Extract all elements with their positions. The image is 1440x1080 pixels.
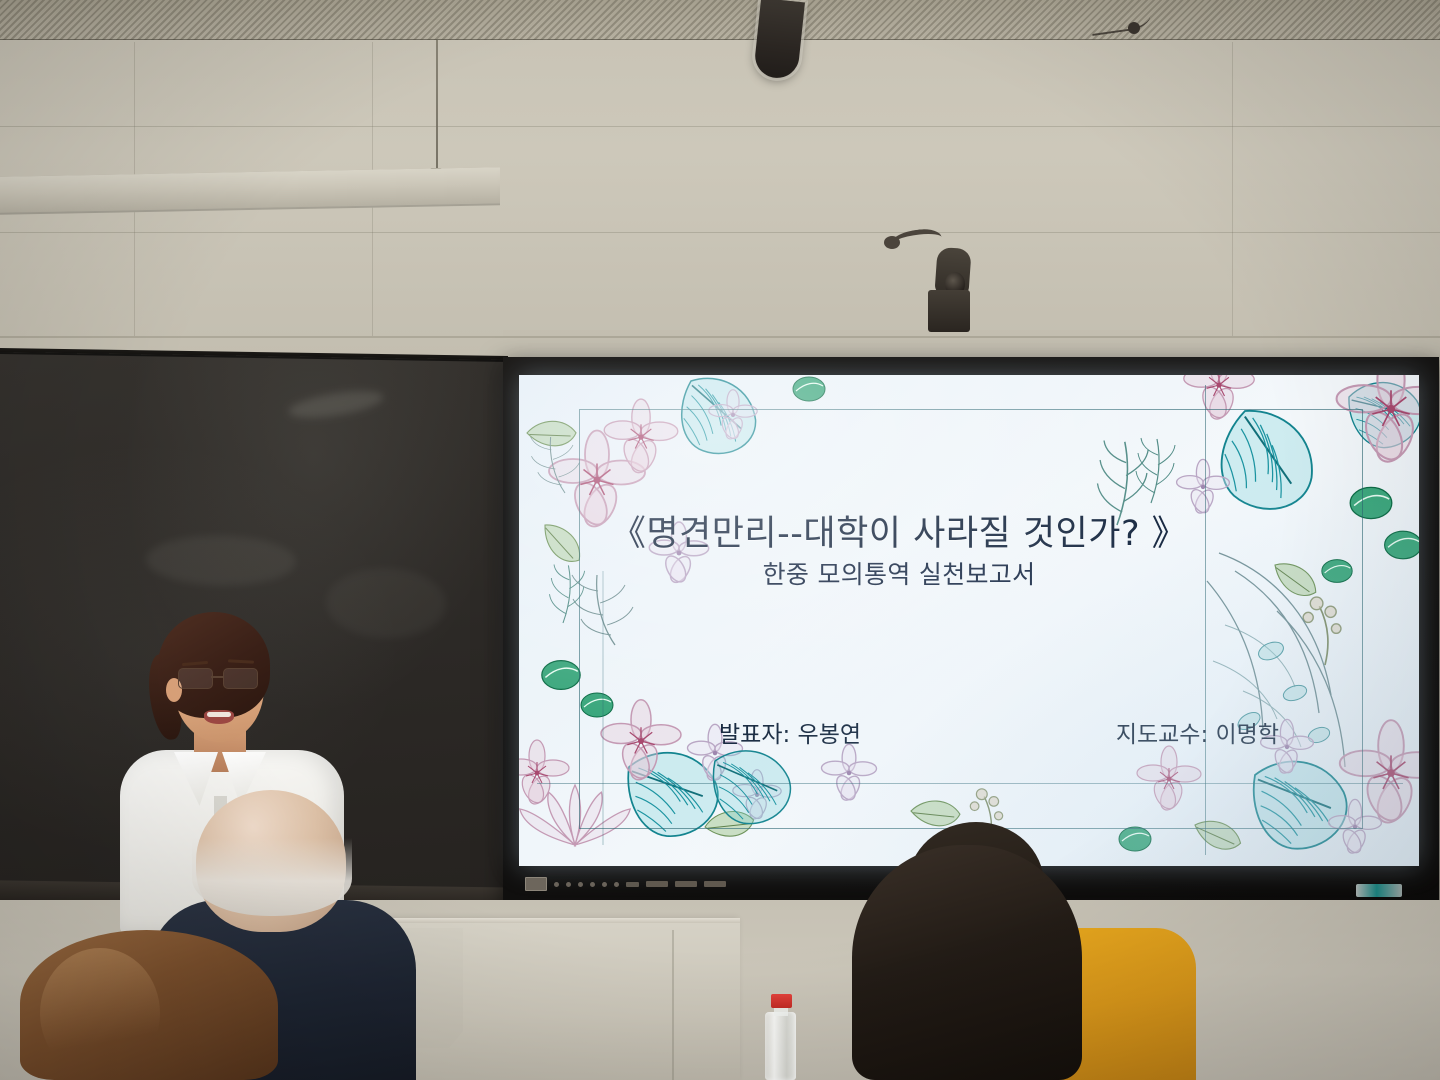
- water-bottle: [765, 1012, 796, 1080]
- ceiling-grille: [0, 0, 1440, 42]
- slide-subtitle: 한중 모의통역 실천보고서: [519, 555, 1279, 591]
- advisor-credit: 지도교수: 이명학: [1116, 715, 1279, 749]
- indicator-dot-icon: [566, 882, 571, 887]
- usb-port-icon[interactable]: [525, 877, 547, 891]
- bezel-button[interactable]: [675, 881, 697, 887]
- wall-seam-vertical: [1232, 42, 1233, 336]
- ceiling-wire-knob: [1128, 22, 1140, 34]
- light-cable: [436, 40, 438, 175]
- wall-camera-mount-plate: [928, 290, 970, 332]
- audience-member-brown-hair: [20, 930, 278, 1080]
- slide-credits: 발표자: 우봉연 지도교수: 이명학: [719, 715, 1279, 749]
- classroom-photo: 《명견만리--대학이 사라질 것인가? 》 한중 모의통역 실천보고서 발표자:…: [0, 0, 1440, 1080]
- wall-seam: [0, 232, 1440, 233]
- indicator-dot-icon: [554, 882, 559, 887]
- slide-title: 《명견만리--대학이 사라질 것인가? 》: [519, 505, 1279, 556]
- bezel-button[interactable]: [646, 881, 668, 887]
- presenter-mouth: [204, 710, 234, 724]
- audience-member-long-dark-hair: [852, 845, 1082, 1080]
- indicator-dot-icon: [602, 882, 607, 887]
- slide-frame-vertical: [1205, 385, 1206, 855]
- indicator-dot-icon: [578, 882, 583, 887]
- indicator-dot-icon: [590, 882, 595, 887]
- eyeglasses-icon: [178, 668, 262, 688]
- presenter-hair: [158, 612, 270, 718]
- slide-inner-frame: [579, 409, 1363, 829]
- indicator-dot-icon: [614, 882, 619, 887]
- slide-frame-horizontal: [537, 783, 1403, 784]
- podium-edge: [380, 918, 740, 923]
- wall-seam: [0, 126, 1440, 127]
- presentation-screen[interactable]: 《명견만리--대학이 사라질 것인가? 》 한중 모의통역 실천보고서 발표자:…: [519, 375, 1419, 866]
- power-led-icon: [1356, 884, 1402, 897]
- podium-seam: [672, 930, 674, 1080]
- presenter-credit: 발표자: 우봉연: [719, 715, 861, 749]
- display-control-strip[interactable]: [519, 876, 845, 892]
- wall-camera-arm-end: [884, 236, 900, 249]
- audience-grey-hair: [192, 838, 352, 916]
- bezel-button[interactable]: [704, 881, 726, 887]
- wall-seam: [0, 336, 1440, 338]
- bottle-cap: [771, 994, 792, 1008]
- bezel-button[interactable]: [626, 882, 639, 887]
